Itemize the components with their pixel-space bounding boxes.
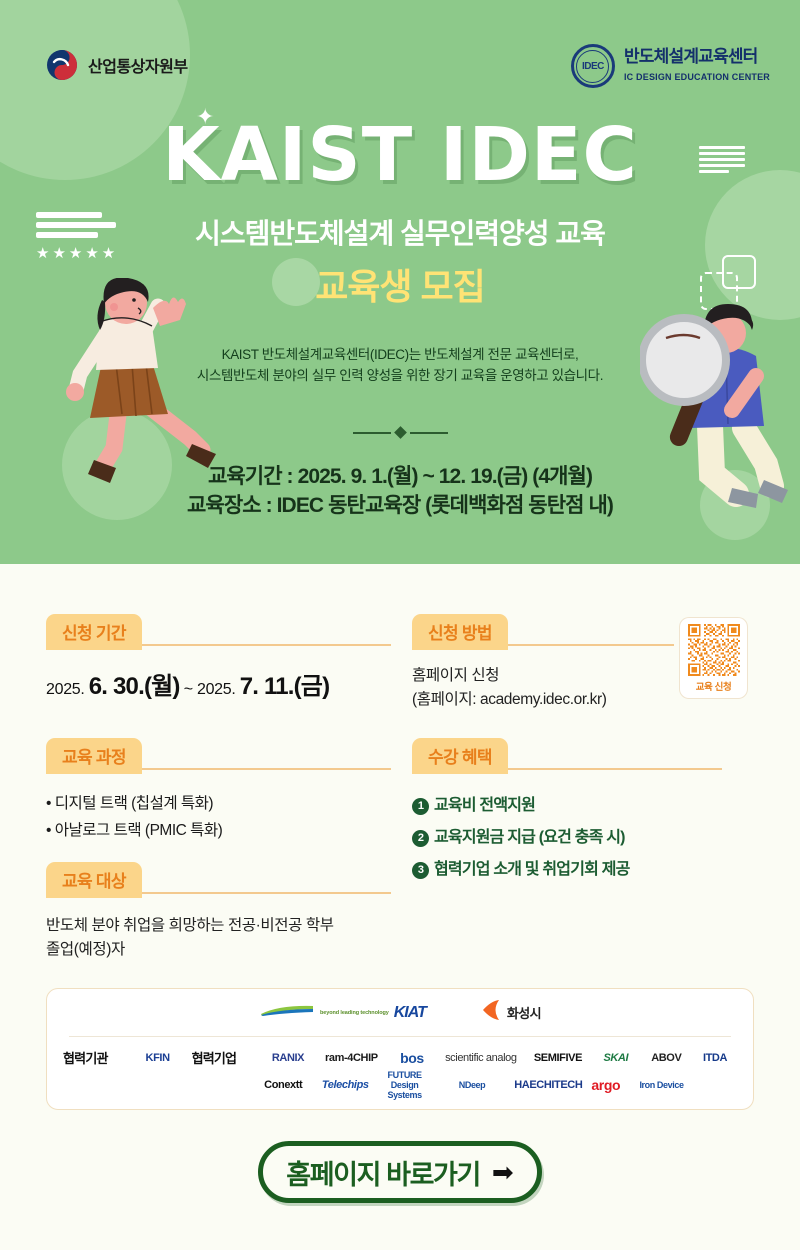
partner-logo: NDeep bbox=[430, 1080, 515, 1090]
list-item: 2교육지원금 지급 (요건 충족 시) bbox=[412, 822, 757, 854]
kiat-logo: beyond leading technology KIAT bbox=[259, 1003, 426, 1022]
intro-description: KAIST 반도체설계교육센터(IDEC)는 반도체설계 전문 교육센터로, 시… bbox=[0, 345, 800, 387]
courses-list: 디지털 트랙 (칩설계 특화) 아날로그 트랙 (PMIC 특화) bbox=[46, 790, 391, 844]
kiat-name: KIAT bbox=[394, 1004, 426, 1022]
section-benefits: 수강 혜택 1교육비 전액지원 2교육지원금 지급 (요건 충족 시) 3협력기… bbox=[412, 738, 757, 886]
idec-names: 반도체설계교육센터 IC DESIGN EDUCATION CENTER bbox=[624, 48, 770, 85]
idec-logo: IDEC 반도체설계교육센터 IC DESIGN EDUCATION CENTE… bbox=[571, 44, 770, 88]
arrow-right-icon: ➡ bbox=[492, 1159, 514, 1185]
section-apply-method: 신청 방법 홈페이지 신청 (홈페이지: academy.idec.or.kr) bbox=[412, 614, 757, 712]
apply-end-date: 7. 11.(금) bbox=[240, 673, 330, 700]
partner-row-1: 협력기관 KFIN 협력기업 RANIX ram-4CHIP bos scien… bbox=[63, 1044, 737, 1071]
benefit-text: 교육지원금 지급 (요건 충족 시) bbox=[434, 829, 625, 846]
target-line-2: 졸업(예정)자 bbox=[46, 938, 391, 962]
page-title-accent: 교육생 모집 bbox=[0, 258, 800, 310]
logo-row: 산업통상자원부 IDEC 반도체설계교육센터 IC DESIGN EDUCATI… bbox=[0, 44, 800, 92]
section-target: 교육 대상 반도체 분야 취업을 희망하는 전공·비전공 학부 졸업(예정)자 bbox=[46, 862, 391, 962]
section-courses: 교육 과정 디지털 트랙 (칩설계 특화) 아날로그 트랙 (PMIC 특화) bbox=[46, 738, 391, 844]
target-line-1: 반도체 분야 취업을 희망하는 전공·비전공 학부 bbox=[46, 914, 391, 938]
apply-start-date: 6. 30.(월) bbox=[89, 673, 180, 700]
partner-logo: argo bbox=[582, 1077, 629, 1093]
apply-period-value: 2025. 6. 30.(월) ~ 2025. 7. 11.(금) bbox=[46, 666, 391, 701]
ministry-label: 산업통상자원부 bbox=[88, 53, 188, 77]
qr-code-icon[interactable] bbox=[688, 624, 740, 676]
badge-courses: 교육 과정 bbox=[46, 738, 142, 774]
partner-logo: Iron Device bbox=[629, 1080, 694, 1090]
partner-logo-rows: 협력기관 KFIN 협력기업 RANIX ram-4CHIP bos scien… bbox=[47, 1037, 753, 1098]
poster-header: 산업통상자원부 IDEC 반도체설계교육센터 IC DESIGN EDUCATI… bbox=[0, 0, 800, 575]
benefit-number-icon: 1 bbox=[412, 798, 429, 815]
section-benefits-head: 수강 혜택 bbox=[412, 738, 757, 768]
idec-mark-text: IDEC bbox=[576, 50, 609, 83]
target-text: 반도체 분야 취업을 희망하는 전공·비전공 학부 졸업(예정)자 bbox=[46, 914, 391, 962]
partner-logo: SKAI bbox=[592, 1052, 640, 1064]
section-target-head: 교육 대상 bbox=[46, 862, 391, 892]
ministry-logo: 산업통상자원부 bbox=[45, 48, 188, 82]
page-subtitle: 시스템반도체설계 실무인력양성 교육 bbox=[0, 212, 800, 252]
companies-label: 협력기업 bbox=[192, 1048, 260, 1067]
benefit-number-icon: 3 bbox=[412, 862, 429, 879]
homepage-link-button[interactable]: 홈페이지 바로가기 ➡ bbox=[258, 1141, 542, 1203]
hwaseong-mark-icon bbox=[480, 999, 502, 1026]
training-period-line: 교육기간 : 2025. 9. 1.(월) ~ 12. 19.(금) (4개월) bbox=[0, 460, 800, 490]
partner-logo: ABOV bbox=[640, 1052, 693, 1064]
sponsor-logo-row: beyond leading technology KIAT 화성시 bbox=[69, 989, 731, 1037]
partner-logo: scientific analog bbox=[438, 1052, 524, 1064]
partner-logo: ram-4CHIP bbox=[316, 1052, 386, 1064]
apply-period-tilde: ~ bbox=[184, 681, 193, 698]
scalloped-edge-fill bbox=[0, 564, 800, 575]
idec-seal-icon: IDEC bbox=[571, 44, 615, 88]
idec-name-en: IC DESIGN EDUCATION CENTER bbox=[624, 72, 770, 82]
idec-name-ko: 반도체설계교육센터 bbox=[624, 47, 758, 66]
kiat-swoosh-icon bbox=[259, 1003, 315, 1022]
benefit-text: 협력기업 소개 및 취업기회 제공 bbox=[434, 861, 630, 878]
partner-logo: RANIX bbox=[260, 1052, 317, 1064]
page-title: KAIST IDEC bbox=[0, 118, 800, 192]
qr-code-card[interactable]: 교육 신청 bbox=[680, 618, 747, 698]
benefit-number-icon: 2 bbox=[412, 830, 429, 847]
partner-logo: bos bbox=[386, 1050, 437, 1066]
hwaseong-logo: 화성시 bbox=[480, 999, 541, 1026]
list-item: 3협력기업 소개 및 취업기회 제공 bbox=[412, 854, 757, 886]
section-courses-head: 교육 과정 bbox=[46, 738, 391, 768]
partner-logo: Conextt bbox=[255, 1079, 311, 1091]
kiat-tagline: beyond leading technology bbox=[320, 1010, 389, 1016]
partner-logo: SEMIFIVE bbox=[524, 1052, 592, 1064]
partner-logo: ITDA bbox=[693, 1052, 737, 1064]
divider-diamond-icon bbox=[394, 426, 407, 439]
training-place-line: 교육장소 : IDEC 동탄교육장 (롯데백화점 동탄점 내) bbox=[0, 489, 800, 519]
list-item: 디지털 트랙 (칩설계 특화) bbox=[46, 790, 391, 817]
hwaseong-name: 화성시 bbox=[507, 1003, 541, 1022]
section-apply-period: 신청 기간 2025. 6. 30.(월) ~ 2025. 7. 11.(금) bbox=[46, 614, 391, 701]
badge-benefits: 수강 혜택 bbox=[412, 738, 508, 774]
partners-panel: beyond leading technology KIAT 화성시 협력기관 … bbox=[46, 988, 754, 1110]
cta-label: 홈페이지 바로가기 bbox=[286, 1153, 480, 1192]
divider-line-left bbox=[353, 432, 391, 434]
partner-logo: FUTURE Design Systems bbox=[379, 1070, 429, 1100]
partner-logo-kfin: KFIN bbox=[124, 1052, 192, 1064]
apply-end-year: 2025. bbox=[197, 681, 236, 698]
section-apply-period-head: 신청 기간 bbox=[46, 614, 391, 644]
taegeuk-icon bbox=[45, 48, 79, 82]
benefit-text: 교육비 전액지원 bbox=[434, 797, 535, 814]
apply-start-year: 2025. bbox=[46, 681, 85, 698]
badge-apply-method: 신청 방법 bbox=[412, 614, 508, 650]
badge-target: 교육 대상 bbox=[46, 862, 142, 898]
list-item: 1교육비 전액지원 bbox=[412, 790, 757, 822]
partner-row-2: Conextt Telechips FUTURE Design Systems … bbox=[63, 1071, 737, 1098]
partner-logo: Telechips bbox=[311, 1079, 379, 1091]
divider-line-right bbox=[410, 432, 448, 434]
ornament-divider bbox=[0, 428, 800, 437]
intro-line-1: KAIST 반도체설계교육센터(IDEC)는 반도체설계 전문 교육센터로, bbox=[0, 345, 800, 366]
partner-logo: HAECHITECH bbox=[514, 1079, 582, 1091]
qr-caption: 교육 신청 bbox=[696, 679, 732, 693]
badge-apply-period: 신청 기간 bbox=[46, 614, 142, 650]
institutions-label: 협력기관 bbox=[63, 1048, 124, 1067]
intro-line-2: 시스템반도체 분야의 실무 인력 양성을 위한 장기 교육을 운영하고 있습니다… bbox=[0, 366, 800, 387]
benefits-list: 1교육비 전액지원 2교육지원금 지급 (요건 충족 시) 3협력기업 소개 및… bbox=[412, 790, 757, 886]
list-item: 아날로그 트랙 (PMIC 특화) bbox=[46, 817, 391, 844]
